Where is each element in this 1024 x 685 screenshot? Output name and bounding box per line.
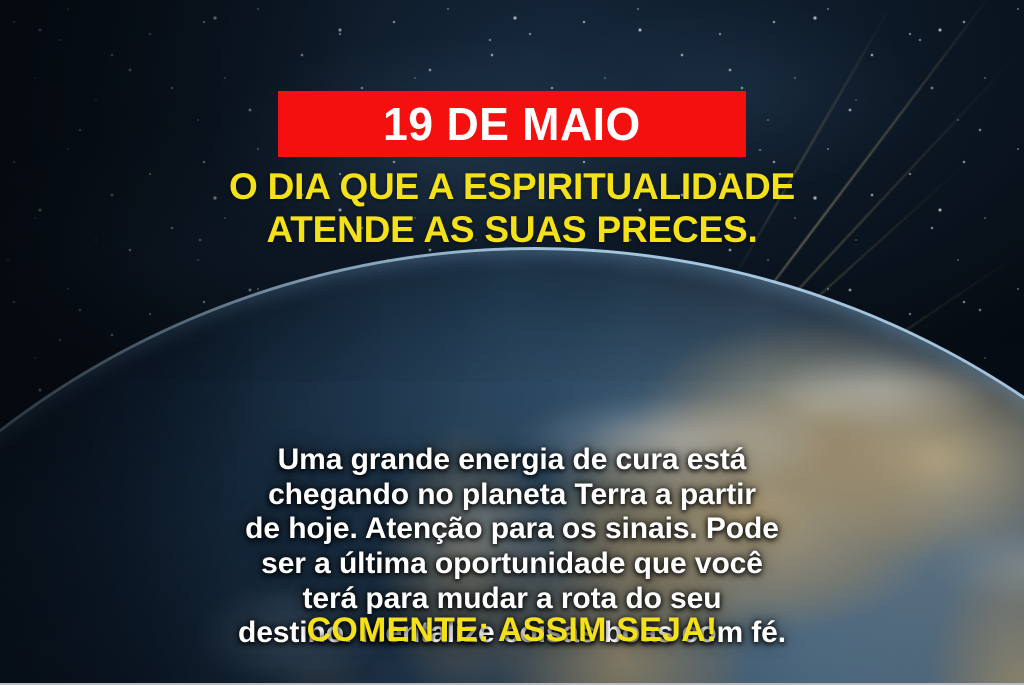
headline-line-1: O DIA QUE A ESPIRITUALIDADE [0, 166, 1024, 209]
call-to-action-label: COMENTE: ASSIM SEJA! [0, 613, 1024, 647]
body-line-4: ser a última oportunidade que você [0, 547, 1024, 582]
date-banner-label: 19 DE MAIO [383, 101, 641, 147]
body-line-1: Uma grande energia de cura está [0, 443, 1024, 478]
headline: O DIA QUE A ESPIRITUALIDADE ATENDE AS SU… [0, 166, 1024, 252]
poster-content: 19 DE MAIO O DIA QUE A ESPIRITUALIDADE A… [0, 0, 1024, 683]
body-line-2: chegando no planeta Terra a partir [0, 478, 1024, 513]
date-banner: 19 DE MAIO [278, 91, 746, 157]
poster-image: 19 DE MAIO O DIA QUE A ESPIRITUALIDADE A… [0, 0, 1024, 685]
headline-line-2: ATENDE AS SUAS PRECES. [0, 209, 1024, 252]
body-line-3: de hoje. Atenção para os sinais. Pode [0, 512, 1024, 547]
